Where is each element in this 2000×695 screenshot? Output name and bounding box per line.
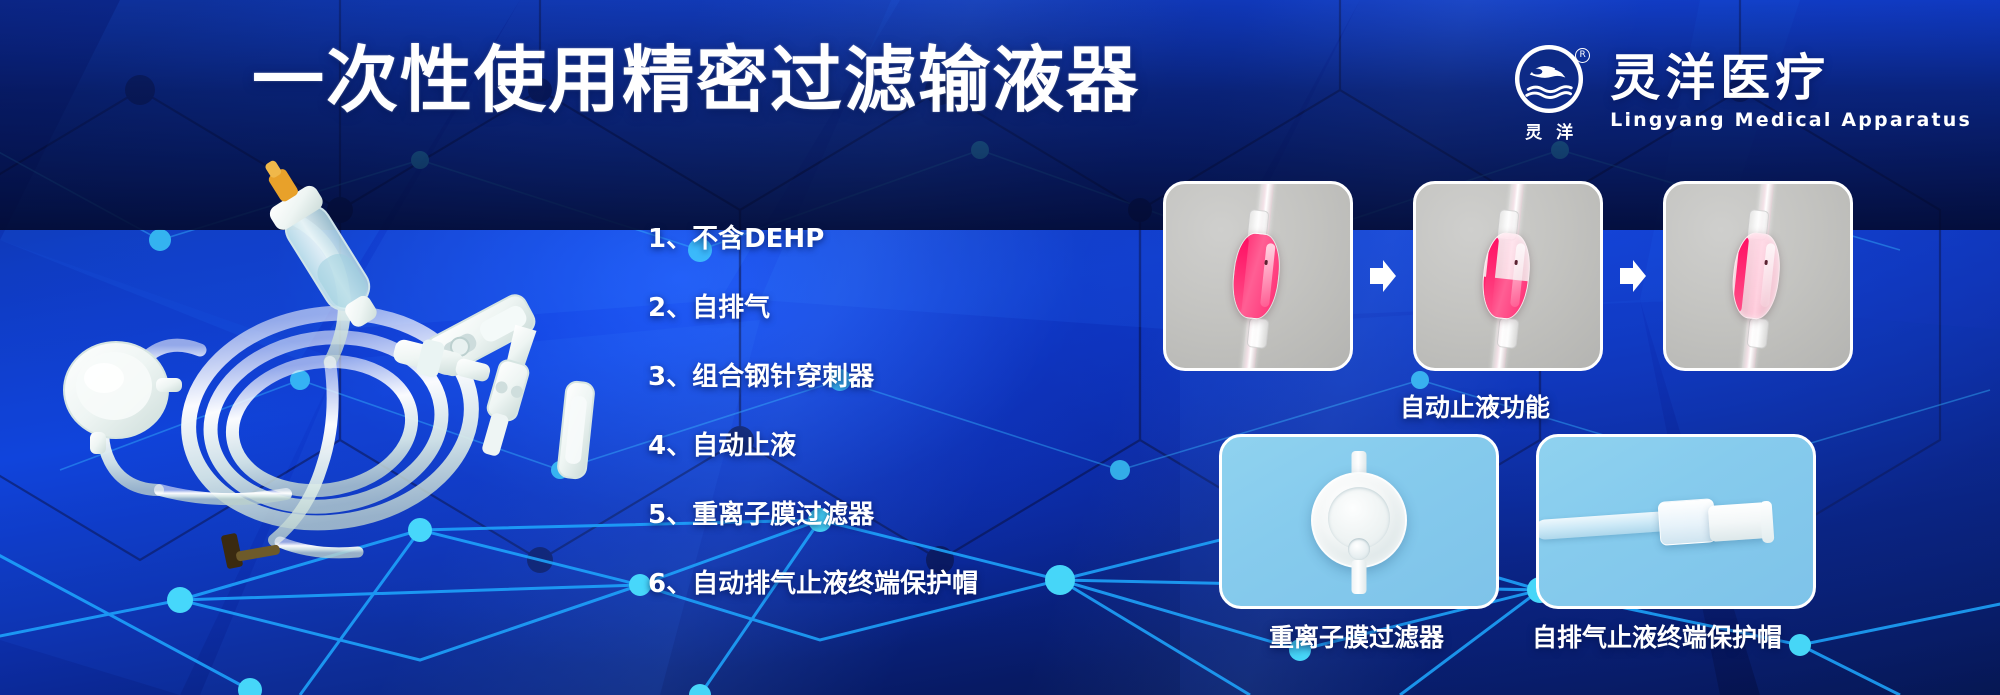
terminal-cap-part bbox=[557, 381, 595, 479]
iv-infusion-set-photo bbox=[20, 150, 680, 570]
page-title: 一次性使用精密过滤输液器 bbox=[252, 44, 1140, 116]
arrow-right-icon bbox=[1620, 259, 1646, 293]
arrow-right-icon bbox=[1370, 259, 1396, 293]
registered-trademark-icon: R bbox=[1575, 48, 1590, 63]
feature-item-3: 3、组合钢针穿刺器 bbox=[648, 364, 978, 390]
feature-item-6: 6、自动排气止液终端保护帽 bbox=[648, 571, 978, 597]
cap-end-ring bbox=[1760, 500, 1775, 543]
chamber-edge bbox=[1732, 236, 1749, 313]
caption-terminal-protective-cap: 自排气止液终端保护帽 bbox=[1532, 618, 1782, 654]
sequence-caption: 自动止液功能 bbox=[1400, 388, 1550, 424]
brand-name-cn: 灵洋医疗 bbox=[1610, 52, 1972, 105]
sequence-arrow-2-slot bbox=[1603, 259, 1663, 293]
banner-root: 一次性使用精密过滤输液器 R 灵洋 灵洋医疗 Lingyang Medical … bbox=[0, 0, 2000, 695]
brand-name-en: Lingyang Medical Apparatus bbox=[1610, 109, 1972, 131]
seal-char-right: 洋 bbox=[1556, 123, 1587, 143]
chamber-gloss bbox=[1760, 243, 1776, 308]
sequence-frame-chamber-empty bbox=[1663, 181, 1853, 371]
seal-char-left: 灵 bbox=[1525, 123, 1556, 143]
precision-filter-part bbox=[64, 342, 182, 454]
filter-outlet-nub bbox=[1352, 560, 1367, 594]
sequence-frame-chamber-full bbox=[1163, 181, 1353, 371]
shot-terminal-protective-cap bbox=[1536, 434, 1816, 609]
tube-coupler-lower bbox=[1746, 317, 1769, 349]
shot-heavy-ion-membrane-filter bbox=[1219, 434, 1499, 609]
feature-list: 1、不含DEHP 2、自排气 3、组合钢针穿刺器 4、自动止液 5、重离子膜过滤… bbox=[648, 226, 978, 597]
feature-item-5: 5、重离子膜过滤器 bbox=[648, 502, 978, 528]
auto-stop-sequence bbox=[1163, 181, 1853, 371]
infusion-set-illustration bbox=[20, 150, 680, 570]
feature-item-4: 4、自动止液 bbox=[648, 433, 978, 459]
filter-chamber-full bbox=[1229, 231, 1284, 321]
sequence-arrow-1-slot bbox=[1353, 259, 1413, 293]
filter-chamber-half bbox=[1479, 231, 1534, 321]
brand-seal-mark: R 灵洋 bbox=[1506, 42, 1592, 143]
filter-chamber-empty bbox=[1729, 231, 1784, 321]
feature-item-1: 1、不含DEHP bbox=[648, 226, 978, 252]
cap-luer-hub bbox=[1658, 498, 1717, 546]
caption-heavy-ion-membrane-filter: 重离子膜过滤器 bbox=[1269, 618, 1444, 654]
tube-coupler-lower bbox=[1246, 317, 1269, 349]
feature-item-2: 2、自排气 bbox=[648, 295, 978, 321]
round-filter-body bbox=[1311, 472, 1407, 568]
brand-seal-label: 灵洋 bbox=[1506, 118, 1592, 143]
tube-coupler-lower bbox=[1496, 317, 1519, 349]
brand-logo: R 灵洋 灵洋医疗 Lingyang Medical Apparatus bbox=[1506, 42, 1972, 143]
round-filter-outlet-port bbox=[1348, 538, 1370, 560]
brand-text-block: 灵洋医疗 Lingyang Medical Apparatus bbox=[1610, 52, 1972, 133]
sequence-frame-chamber-half bbox=[1413, 181, 1603, 371]
